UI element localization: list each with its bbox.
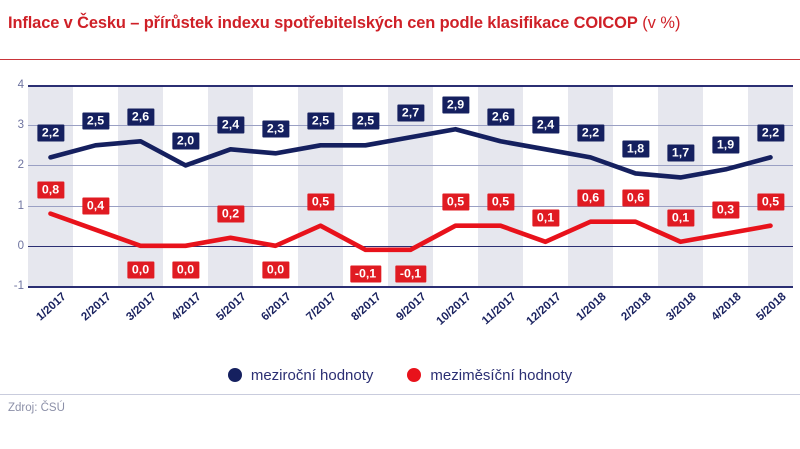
value-label: 2,6 [127, 109, 154, 126]
value-label: 2,2 [757, 125, 784, 142]
page-title-suffix: (v %) [638, 14, 681, 32]
plot-area: 2,22,52,62,02,42,32,52,52,72,92,62,42,21… [28, 85, 793, 286]
value-label: 2,9 [442, 97, 469, 114]
y-tick-label: 4 [2, 79, 24, 91]
x-tick-label: 5/2017 [213, 290, 248, 323]
y-tick-label: 3 [2, 119, 24, 131]
value-label: 0,5 [757, 193, 784, 210]
x-tick-label: 11/2017 [479, 290, 518, 327]
value-label: 0,0 [127, 261, 154, 278]
series-line [51, 129, 771, 177]
value-label: 2,2 [37, 125, 64, 142]
x-tick-label: 6/2017 [258, 290, 293, 323]
y-tick-label: 0 [2, 240, 24, 252]
value-label: 2,5 [352, 113, 379, 130]
value-label: 0,2 [217, 205, 244, 222]
x-tick-label: 2/2018 [618, 290, 653, 323]
page-title-main: Inflace v Česku – přírůstek indexu spotř… [8, 14, 638, 32]
legend-label: meziměsíční hodnoty [430, 367, 572, 384]
value-label: 2,5 [82, 113, 109, 130]
x-tick-label: 12/2017 [523, 290, 563, 328]
chart-legend: meziroční hodnotymeziměsíční hodnoty [0, 360, 800, 390]
value-label: 0,6 [622, 189, 649, 206]
legend-marker-circle-icon [228, 368, 242, 382]
value-label: 2,4 [532, 117, 559, 134]
value-label: 2,7 [397, 105, 424, 122]
value-label: 0,5 [442, 193, 469, 210]
y-tick-label: 1 [2, 200, 24, 212]
value-label: 2,3 [262, 121, 289, 138]
y-axis-labels: 43210-1 [0, 85, 24, 286]
page-title: Inflace v Česku – přírůstek indexu spotř… [0, 14, 800, 46]
chart-canvas: 43210-1 2,22,52,62,02,42,32,52,52,72,92,… [0, 70, 800, 310]
legend-item[interactable]: meziměsíční hodnoty [407, 367, 572, 384]
value-label: 0,6 [577, 189, 604, 206]
value-label: 2,2 [577, 125, 604, 142]
value-label: 0,0 [172, 261, 199, 278]
x-tick-label: 4/2017 [168, 290, 203, 323]
legend-marker-circle-icon [407, 368, 421, 382]
x-tick-label: 1/2018 [573, 290, 608, 323]
footer-divider [0, 394, 800, 395]
value-label: 2,6 [487, 109, 514, 126]
value-label: 0,5 [307, 193, 334, 210]
value-label: -0,1 [350, 265, 381, 282]
legend-label: meziroční hodnoty [251, 367, 374, 384]
x-tick-label: 2/2017 [78, 290, 113, 323]
chart-page: Inflace v Česku – přírůstek indexu spotř… [0, 0, 800, 449]
x-tick-label: 5/2018 [753, 290, 788, 323]
value-label: 1,7 [667, 145, 694, 162]
legend-item[interactable]: meziroční hodnoty [228, 367, 374, 384]
value-label: 1,9 [712, 137, 739, 154]
value-label: 0,4 [82, 197, 109, 214]
value-label: 0,0 [262, 261, 289, 278]
value-label: 0,1 [532, 209, 559, 226]
value-label: 2,0 [172, 133, 199, 150]
x-tick-label: 1/2017 [33, 290, 68, 323]
x-tick-label: 10/2017 [433, 290, 473, 328]
x-tick-label: 8/2017 [348, 290, 383, 323]
value-label: -0,1 [395, 265, 426, 282]
x-tick-label: 3/2018 [663, 290, 698, 323]
x-tick-label: 4/2018 [708, 290, 743, 323]
x-tick-label: 3/2017 [123, 290, 158, 323]
x-tick-label: 7/2017 [303, 290, 338, 323]
x-tick-label: 9/2017 [393, 290, 428, 323]
series-line [51, 214, 771, 250]
value-label: 2,4 [217, 117, 244, 134]
value-label: 2,5 [307, 113, 334, 130]
title-divider [0, 59, 800, 60]
y-tick-label: 2 [2, 159, 24, 171]
value-label: 0,8 [37, 181, 64, 198]
value-label: 0,5 [487, 193, 514, 210]
value-label: 0,1 [667, 209, 694, 226]
source-note: Zdroj: ČSÚ [8, 402, 65, 414]
value-label: 0,3 [712, 201, 739, 218]
value-label: 1,8 [622, 141, 649, 158]
x-axis-labels: 1/20172/20173/20174/20175/20176/20177/20… [0, 288, 800, 336]
